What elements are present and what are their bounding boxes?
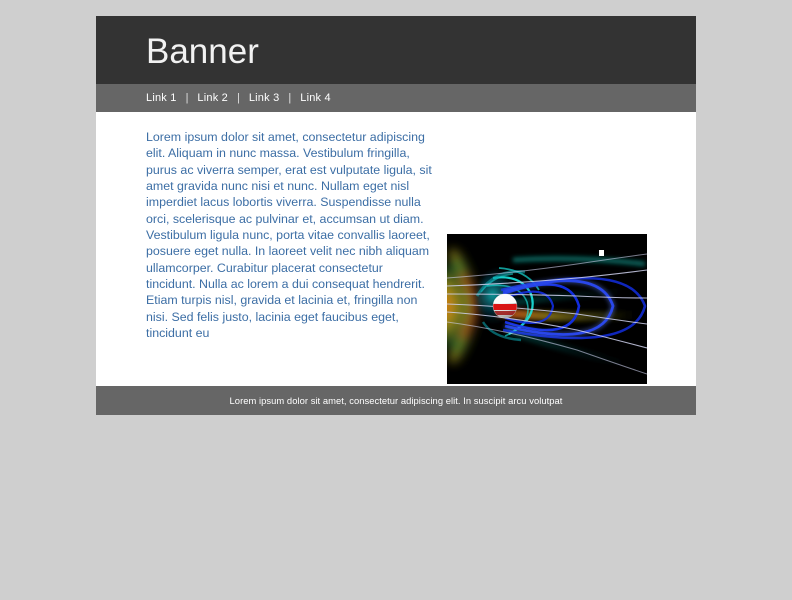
nav-link-4[interactable]: Link 4 — [300, 93, 331, 104]
body-paragraph: Lorem ipsum dolor sit amet, consectetur … — [146, 129, 434, 341]
site-header: Banner — [96, 16, 696, 84]
page-container: Banner Link 1 | Link 2 | Link 3 | Link 4… — [96, 16, 696, 415]
magnetosphere-illustration — [447, 234, 647, 384]
nav-link-2[interactable]: Link 2 — [197, 93, 228, 104]
nav-link-1[interactable]: Link 1 — [146, 93, 177, 104]
nav-separator: | — [228, 93, 249, 104]
site-footer: Lorem ipsum dolor sit amet, consectetur … — [96, 386, 696, 415]
article-text-block: Lorem ipsum dolor sit amet, consectetur … — [146, 129, 434, 341]
main-content: Lorem ipsum dolor sit amet, consectetur … — [96, 112, 696, 386]
nav-link-3[interactable]: Link 3 — [249, 93, 280, 104]
nav-separator: | — [177, 93, 198, 104]
magnetosphere-graphic — [447, 234, 647, 384]
nav-separator: | — [279, 93, 300, 104]
page-title: Banner — [146, 32, 259, 72]
main-navigation: Link 1 | Link 2 | Link 3 | Link 4 — [96, 84, 696, 112]
footer-text: Lorem ipsum dolor sit amet, consectetur … — [230, 395, 563, 406]
scale-marker-icon — [599, 250, 604, 256]
